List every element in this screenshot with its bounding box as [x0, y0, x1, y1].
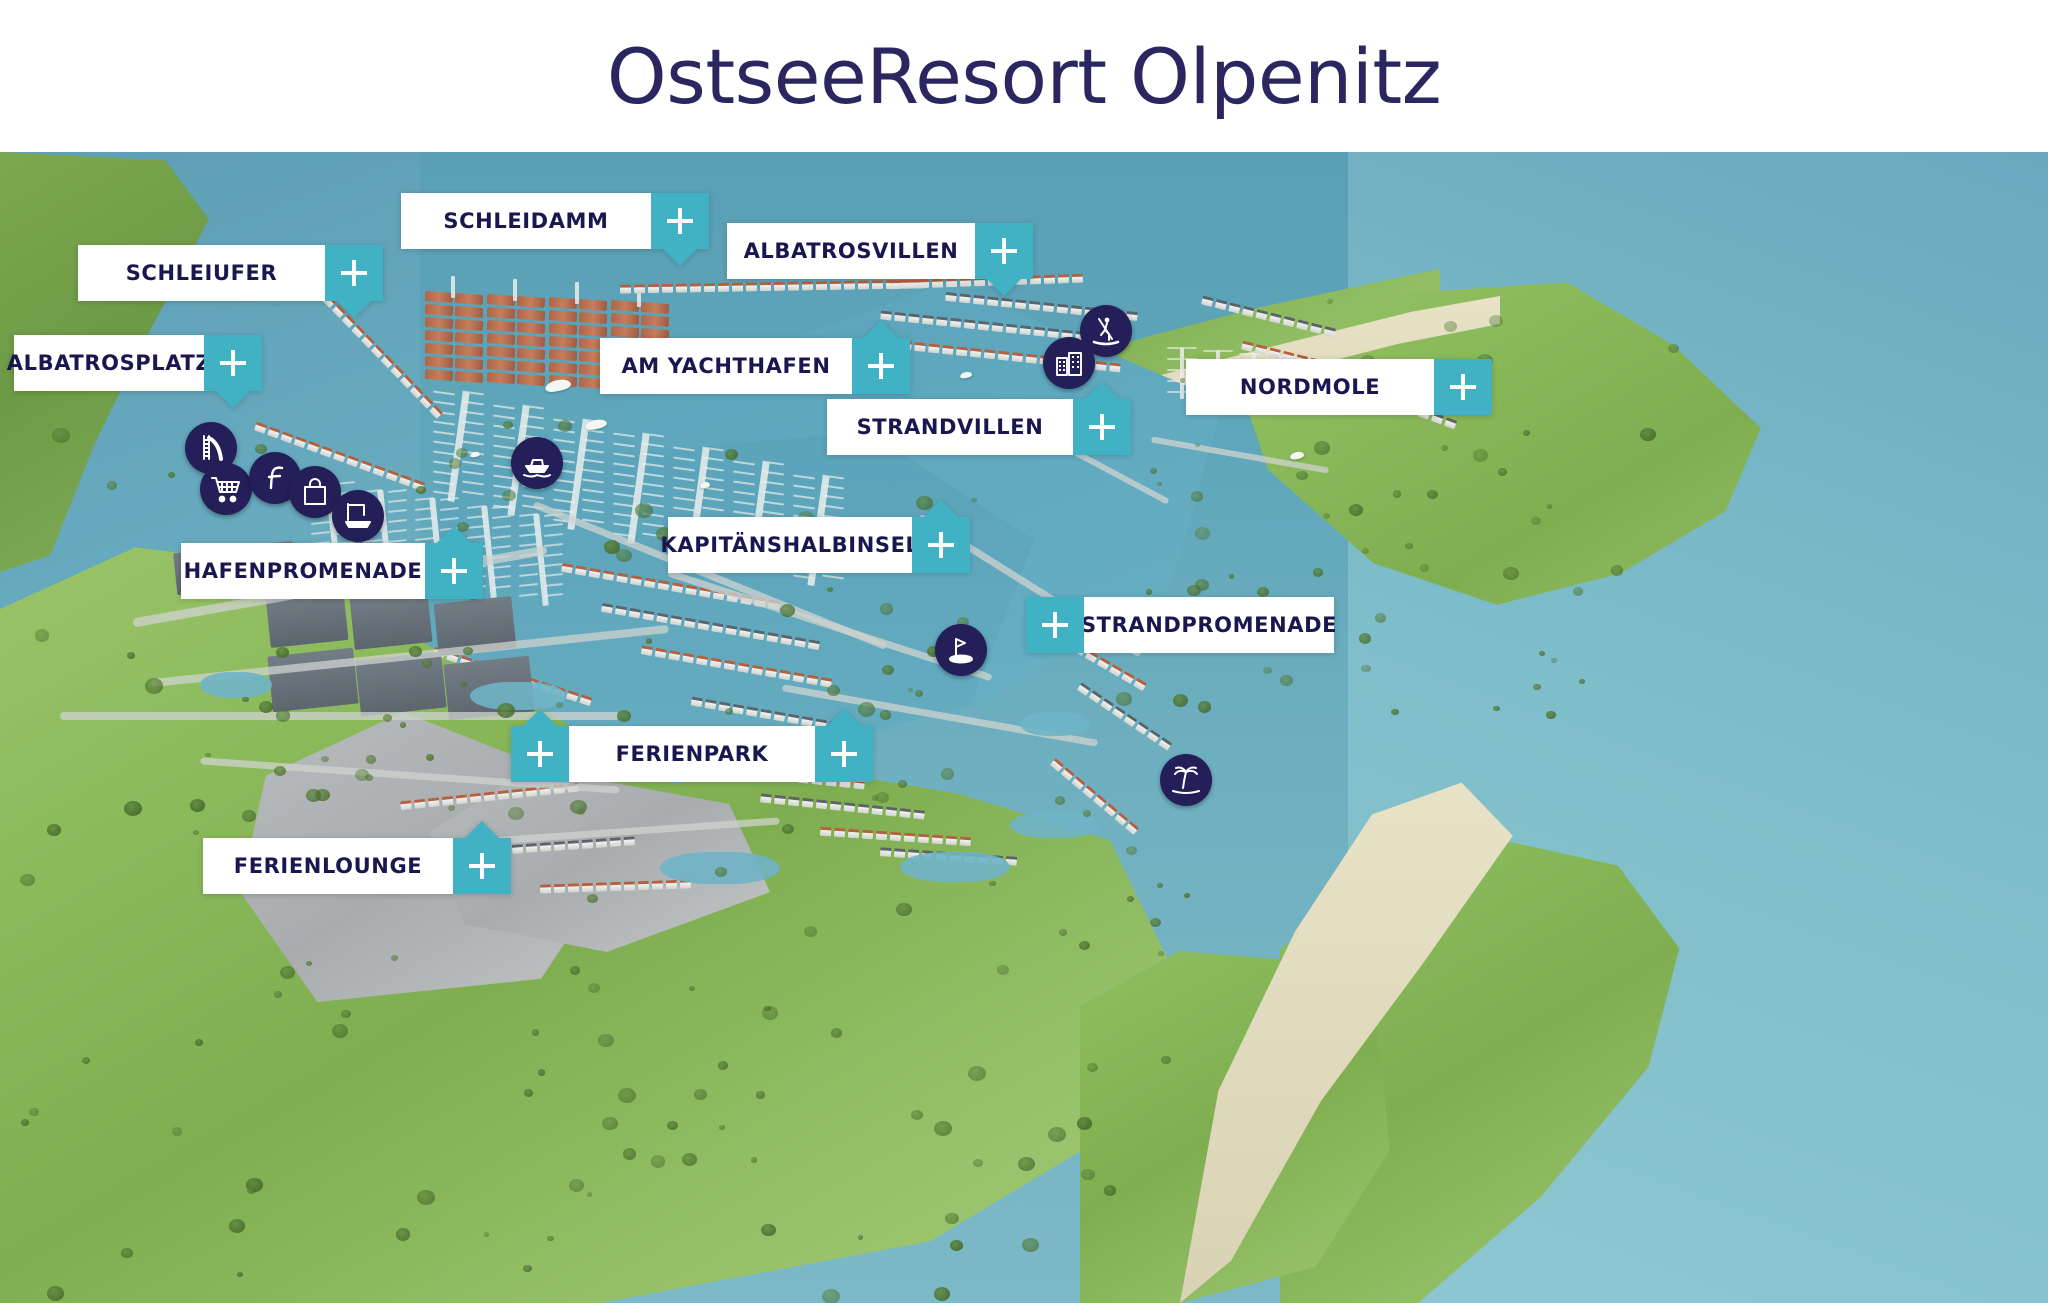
shopping-cart-icon[interactable]: [200, 463, 252, 515]
hotspot-label-text: FERIENLOUNGE: [234, 854, 423, 878]
hotspot-label: STRANDPROMENADE: [1084, 597, 1334, 653]
plus-button[interactable]: [425, 543, 483, 599]
boat-lift-icon[interactable]: [332, 490, 384, 542]
hotspot-label: SCHLEIUFER: [78, 245, 325, 301]
plus-button[interactable]: [975, 223, 1033, 279]
hotspot-label: STRANDVILLEN: [827, 399, 1073, 455]
map-artwork: [0, 152, 2048, 1303]
golf-icon[interactable]: [935, 624, 987, 676]
resort-map[interactable]: SCHLEIDAMMSCHLEIUFERALBATROSVILLENALBATR…: [0, 152, 2048, 1303]
hotspot-nordmole[interactable]: NORDMOLE: [1186, 359, 1492, 415]
hotspot-label-text: ALBATROSVILLEN: [744, 239, 959, 263]
hotspot-label: HAFENPROMENADE: [181, 543, 425, 599]
hotspot-label: ALBATROSPLATZ: [14, 335, 204, 391]
hotspot-label-text: HAFENPROMENADE: [184, 559, 423, 583]
hotspot-label-text: STRANDPROMENADE: [1081, 613, 1337, 637]
hotspot-label: NORDMOLE: [1186, 359, 1434, 415]
hotspot-am-yachthafen[interactable]: AM YACHTHAFEN: [600, 338, 910, 394]
hotspot-strandvillen[interactable]: STRANDVILLEN: [827, 399, 1131, 455]
hotspot-schleidamm[interactable]: SCHLEIDAMM: [401, 193, 709, 249]
plus-button[interactable]: [1073, 399, 1131, 455]
hotspot-ferienpark[interactable]: FERIENPARK: [511, 726, 873, 782]
hotspot-label: FERIENPARK: [569, 726, 815, 782]
hotspot-label-text: FERIENPARK: [616, 742, 769, 766]
hotspot-label: KAPITÄNSHALBINSEL: [668, 517, 912, 573]
hotspot-ferienlounge[interactable]: FERIENLOUNGE: [203, 838, 511, 894]
hotspot-kapitaenshalbinsel[interactable]: KAPITÄNSHALBINSEL: [668, 517, 970, 573]
hotspot-hafenpromenade[interactable]: HAFENPROMENADE: [181, 543, 483, 599]
hotspot-label: ALBATROSVILLEN: [727, 223, 975, 279]
plus-button[interactable]: [325, 245, 383, 301]
hotspot-label-text: NORDMOLE: [1240, 375, 1380, 399]
palm-beach-icon[interactable]: [1160, 754, 1212, 806]
plus-button[interactable]: [852, 338, 910, 394]
hotspot-albatrosvillen[interactable]: ALBATROSVILLEN: [727, 223, 1033, 279]
plus-button[interactable]: [453, 838, 511, 894]
hotspot-label: SCHLEIDAMM: [401, 193, 651, 249]
plus-button[interactable]: [1434, 359, 1492, 415]
page-title: OstseeResort Olpenitz: [607, 32, 1441, 121]
hotspot-schleiufer[interactable]: SCHLEIUFER: [78, 245, 383, 301]
hotspot-label-text: KAPITÄNSHALBINSEL: [660, 533, 919, 557]
hotspot-label-text: SCHLEIDAMM: [443, 209, 608, 233]
plus-button[interactable]: [204, 335, 262, 391]
hotspot-label: AM YACHTHAFEN: [600, 338, 852, 394]
resort-map-page: OstseeResort Olpenitz: [0, 0, 2048, 1303]
plus-button[interactable]: [815, 726, 873, 782]
motorboat-icon[interactable]: [511, 437, 563, 489]
plus-button[interactable]: [1026, 597, 1084, 653]
hotspot-label-text: STRANDVILLEN: [857, 415, 1044, 439]
plus-button[interactable]: [651, 193, 709, 249]
plus-button[interactable]: [912, 517, 970, 573]
page-header: OstseeResort Olpenitz: [0, 0, 2048, 152]
hotspot-label-text: ALBATROSPLATZ: [7, 351, 211, 375]
plus-button-left[interactable]: [511, 726, 569, 782]
hotspot-label: FERIENLOUNGE: [203, 838, 453, 894]
hotspot-label-text: AM YACHTHAFEN: [621, 354, 830, 378]
hotspot-strandpromenade[interactable]: STRANDPROMENADE: [1026, 597, 1334, 653]
hotspot-label-text: SCHLEIUFER: [126, 261, 278, 285]
hotspot-albatrosplatz[interactable]: ALBATROSPLATZ: [14, 335, 262, 391]
